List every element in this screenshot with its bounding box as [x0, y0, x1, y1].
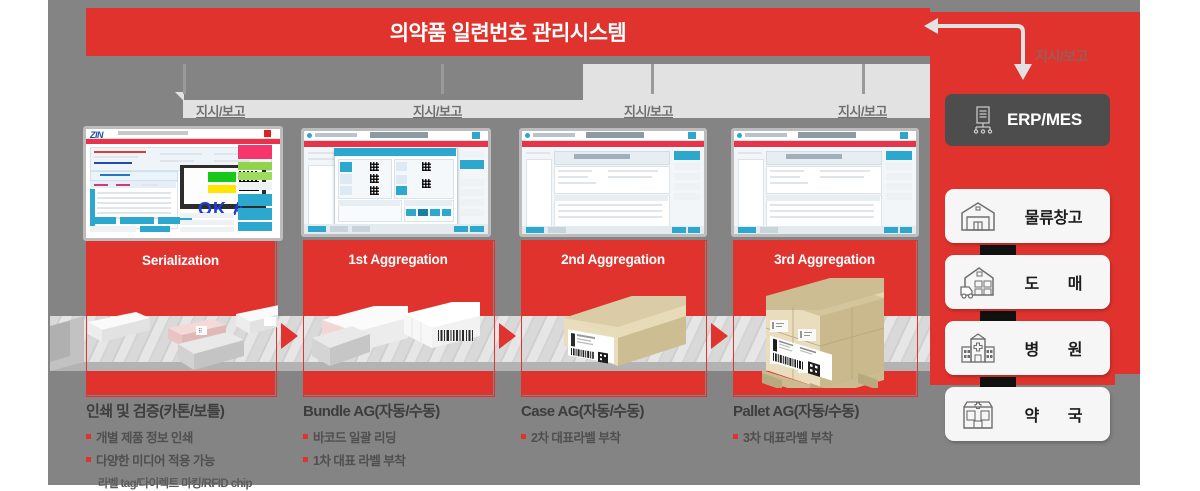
instruction-tick — [441, 64, 444, 94]
dest-connector — [980, 311, 1016, 321]
footer-item: 3차 대표라벨 부착 — [733, 427, 859, 446]
bullet-icon — [521, 434, 526, 439]
page-title: 의약품 일련번호 관리시스템 — [390, 17, 627, 47]
footer-title-4: Pallet AG(자동/수동) — [733, 400, 859, 421]
case-aggregation-box — [560, 288, 690, 370]
footer-item-text: 3차 대표라벨 부착 — [743, 427, 832, 446]
serialization-products: ⠿ — [88, 300, 278, 372]
dest-label-warehouse: 물류창고 — [1009, 204, 1110, 228]
dest-card-distributor[interactable]: 도 매 — [945, 255, 1110, 309]
footer-item-text: 다양한 미디어 적용 가능 — [96, 450, 215, 469]
instruction-tick — [183, 64, 186, 94]
screenshot-thumb-1[interactable]: ZIN — [83, 126, 283, 241]
pallet-aggregation-stack — [758, 270, 890, 388]
distributor-icon — [957, 265, 999, 299]
bullet-icon — [733, 434, 738, 439]
footer-subtext-1: 라벨 tag/다이렉트 마킹/RFID chip — [98, 475, 252, 491]
flow-arrow-2-icon — [499, 323, 516, 349]
erp-feedback-label: 지시/보고 — [1035, 46, 1088, 66]
band-gray-left-fill — [48, 56, 583, 100]
dest-label-pharmacy: 약 국 — [1009, 402, 1110, 426]
instruction-label-1: 지시/보고 — [196, 101, 245, 120]
footer-item-text: 2차 대표라벨 부착 — [531, 427, 620, 446]
erp-panel-notch — [1115, 374, 1140, 386]
instruction-tick — [862, 64, 865, 94]
footer-item-text: 바코드 일괄 리딩 — [313, 427, 396, 446]
footer-block-3: Case AG(자동/수동) 2차 대표라벨 부착 — [521, 400, 644, 446]
instruction-label-3: 지시/보고 — [624, 101, 673, 120]
flow-arrow-1-icon — [281, 323, 298, 349]
header-banner: 의약품 일련번호 관리시스템 — [86, 8, 930, 56]
hospital-icon — [957, 331, 999, 365]
screenshot-thumb-4[interactable] — [731, 128, 919, 237]
server-icon — [973, 106, 995, 134]
instruction-label-2: 지시/보고 — [413, 101, 462, 120]
flow-arrow-3-icon — [711, 323, 728, 349]
bullet-icon — [86, 457, 91, 462]
erp-feedback-arrow-icon — [918, 18, 1038, 88]
footer-item: 1차 대표 라벨 부착 — [303, 450, 440, 469]
instruction-tick — [651, 64, 654, 94]
dest-card-pharmacy[interactable]: 약 국 — [945, 387, 1110, 441]
erp-mes-label: ERP/MES — [1007, 110, 1082, 130]
bundle-aggregation-products — [312, 296, 490, 372]
bullet-icon — [303, 457, 308, 462]
footer-item: 2차 대표라벨 부착 — [521, 427, 644, 446]
instruction-label-4: 지시/보고 — [838, 101, 887, 120]
svg-text:⠿: ⠿ — [198, 328, 202, 335]
footer-title-3: Case AG(자동/수동) — [521, 400, 644, 421]
footer-item: 바코드 일괄 리딩 — [303, 427, 440, 446]
dest-card-hospital[interactable]: 병 원 — [945, 321, 1110, 375]
footer-block-2: Bundle AG(자동/수동) 바코드 일괄 리딩 1차 대표 라벨 부착 — [303, 400, 440, 469]
footer-item: 개별 제품 정보 인쇄 — [86, 427, 252, 446]
dest-card-warehouse[interactable]: 물류창고 — [945, 189, 1110, 243]
screenshot-thumb-3[interactable] — [519, 128, 707, 237]
footer-title-1: 인쇄 및 검증(카톤/보틀) — [86, 400, 252, 421]
conveyor-left-cap — [50, 316, 84, 371]
dest-label-hospital: 병 원 — [1009, 336, 1110, 360]
dest-connector — [980, 245, 1016, 255]
footer-item-text: 1차 대표 라벨 부착 — [313, 450, 405, 469]
right-margin — [1140, 0, 1200, 485]
bullet-icon — [303, 434, 308, 439]
footer-block-4: Pallet AG(자동/수동) 3차 대표라벨 부착 — [733, 400, 859, 446]
screenshot-thumb-2[interactable] — [301, 128, 491, 237]
bullet-icon — [86, 434, 91, 439]
footer-title-2: Bundle AG(자동/수동) — [303, 400, 440, 421]
footer-item: 다양한 미디어 적용 가능 — [86, 450, 252, 469]
warehouse-icon — [957, 199, 999, 233]
pharmacy-icon — [957, 397, 999, 431]
dest-label-distributor: 도 매 — [1009, 270, 1110, 294]
footer-block-1: 인쇄 및 검증(카톤/보틀) 개별 제품 정보 인쇄 다양한 미디어 적용 가능… — [86, 400, 252, 491]
footer-item-text: 개별 제품 정보 인쇄 — [96, 427, 193, 446]
dest-connector — [980, 377, 1016, 387]
diagram-canvas: 의약품 일련번호 관리시스템 지시/보고 지시/보고 지시/보고 지시/보고 지… — [0, 0, 1200, 485]
erp-mes-card[interactable]: ERP/MES — [945, 94, 1110, 146]
